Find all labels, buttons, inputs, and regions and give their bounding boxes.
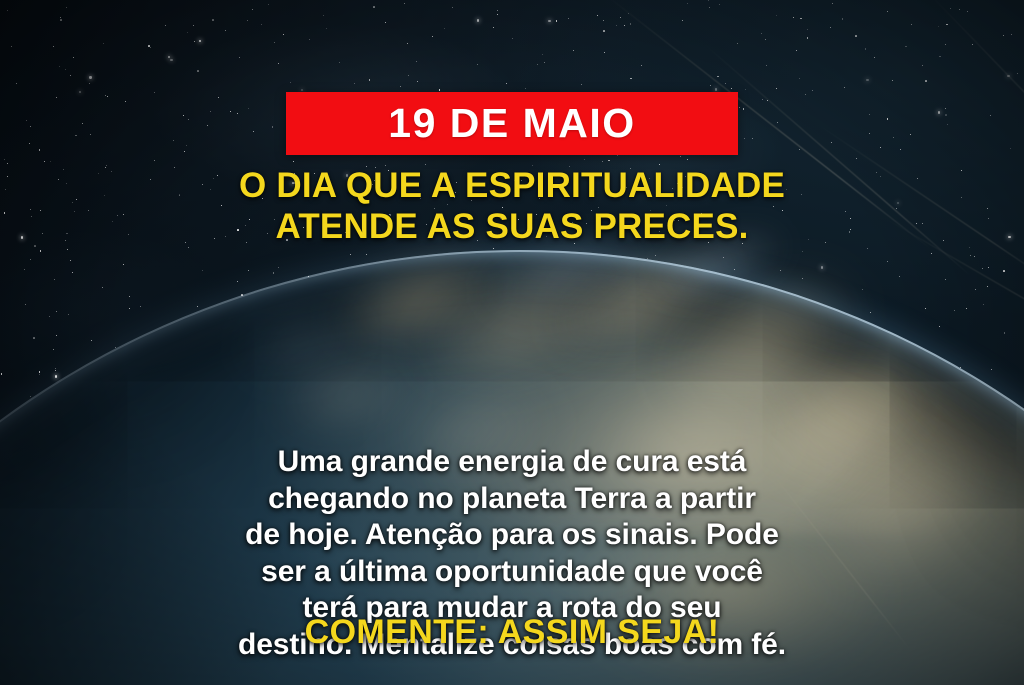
headline: O DIA QUE A ESPIRITUALIDADE ATENDE AS SU… [0, 166, 1024, 248]
call-to-action-text: COMENTE: ASSIM SEJA! [0, 613, 1024, 652]
headline-line-1: O DIA QUE A ESPIRITUALIDADE [40, 166, 984, 207]
body-line-2: chegando no planeta Terra a partir [58, 481, 966, 518]
body-line-1: Uma grande energia de cura está [58, 444, 966, 481]
poster-content: 19 DE MAIO O DIA QUE A ESPIRITUALIDADE A… [0, 0, 1024, 685]
body-line-4: ser a última oportunidade que você [58, 554, 966, 591]
poster-canvas: 19 DE MAIO O DIA QUE A ESPIRITUALIDADE A… [0, 0, 1024, 685]
date-banner: 19 DE MAIO [286, 92, 738, 155]
headline-line-2: ATENDE AS SUAS PRECES. [40, 207, 984, 248]
date-banner-text: 19 DE MAIO [388, 103, 635, 144]
body-line-3: de hoje. Atenção para os sinais. Pode [58, 517, 966, 554]
